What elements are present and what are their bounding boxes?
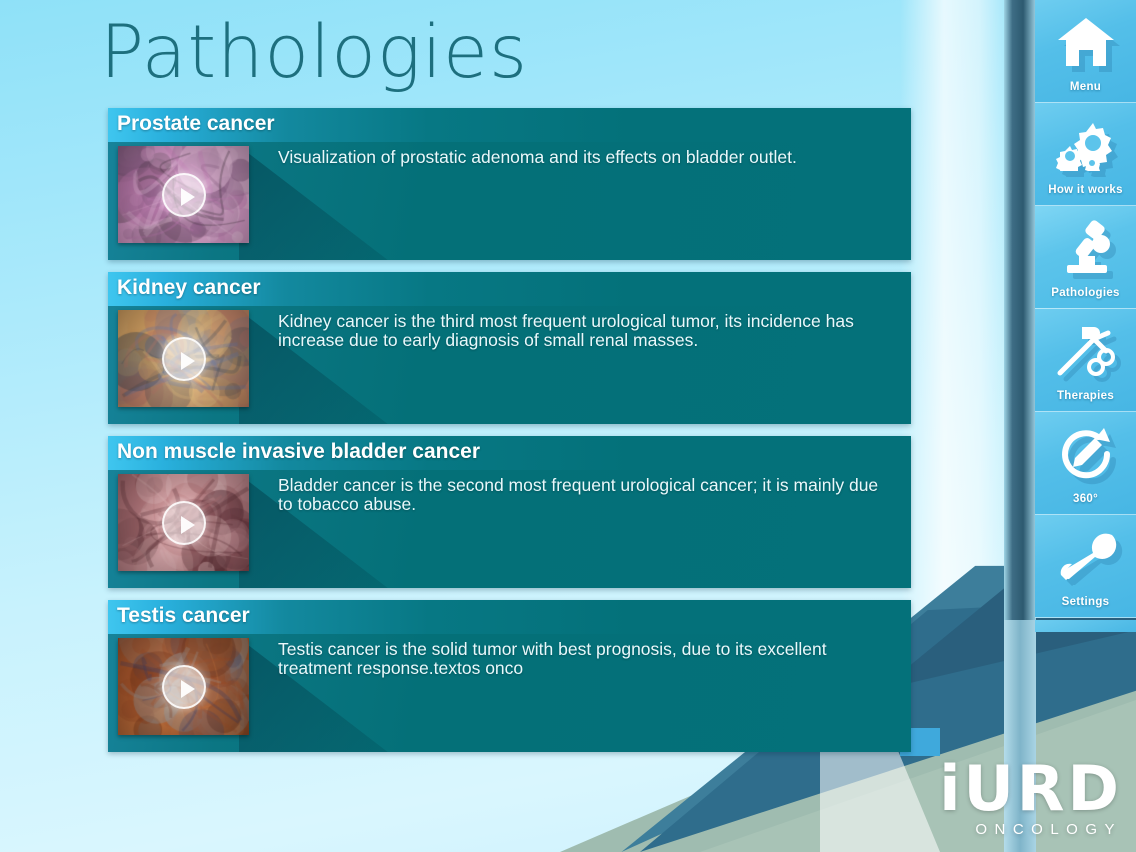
- pathology-card[interactable]: Testis cancer Testis cancer is the solid…: [108, 600, 911, 752]
- card-description: Bladder cancer is the second most freque…: [278, 476, 885, 514]
- rotate-edit-icon: [1035, 425, 1136, 483]
- gears-icon: [1035, 116, 1136, 174]
- sidebar-item-label: Menu: [1035, 81, 1136, 93]
- card-title: Kidney cancer: [117, 276, 261, 300]
- sidebar-item-label: Settings: [1035, 596, 1136, 608]
- sidebar-item-settings[interactable]: Settings: [1035, 515, 1136, 618]
- play-icon[interactable]: [162, 501, 206, 545]
- scissors-icon: [1035, 322, 1136, 380]
- card-body: Visualization of prostatic adenoma and i…: [108, 142, 911, 260]
- brand-logo: iURD ONCOLOGY: [939, 760, 1122, 838]
- microscope-icon: [1035, 219, 1136, 277]
- play-icon[interactable]: [162, 665, 206, 709]
- home-icon: [1035, 13, 1136, 71]
- sidebar-bottom-edge: [1035, 620, 1136, 632]
- kidney-anatomy-thumbnail[interactable]: [118, 310, 249, 407]
- card-body: Testis cancer is the solid tumor with be…: [108, 634, 911, 752]
- page-title: Pathologies: [100, 16, 528, 89]
- wrench-icon: [1035, 528, 1136, 586]
- background-vertical-strip: [1004, 0, 1036, 640]
- play-icon[interactable]: [162, 337, 206, 381]
- card-description: Testis cancer is the solid tumor with be…: [278, 640, 885, 678]
- play-icon[interactable]: [162, 173, 206, 217]
- testis-anatomy-thumbnail[interactable]: [118, 638, 249, 735]
- sidebar-item-label: Pathologies: [1035, 287, 1136, 299]
- card-title: Prostate cancer: [117, 112, 275, 136]
- sidebar-item-360[interactable]: 360°: [1035, 412, 1136, 515]
- sidebar-item-how-it-works[interactable]: How it works: [1035, 103, 1136, 206]
- card-title-bar: Testis cancer: [108, 600, 911, 634]
- sidebar-navigation: Menu How it works Pathologies: [1035, 0, 1136, 620]
- card-title: Non muscle invasive bladder cancer: [117, 440, 480, 464]
- prostate-histology-thumbnail[interactable]: [118, 146, 249, 243]
- card-description: Kidney cancer is the third most frequent…: [278, 312, 885, 350]
- pathology-card[interactable]: Prostate cancer Visualization of prostat…: [108, 108, 911, 260]
- card-title-bar: Non muscle invasive bladder cancer: [108, 436, 911, 470]
- pathology-card[interactable]: Non muscle invasive bladder cancer Bladd…: [108, 436, 911, 588]
- pathology-card[interactable]: Kidney cancer Kidney cancer is the third…: [108, 272, 911, 424]
- sidebar-item-label: Therapies: [1035, 390, 1136, 402]
- card-title-bar: Kidney cancer: [108, 272, 911, 306]
- sidebar-item-label: 360°: [1035, 493, 1136, 505]
- pathology-card-list: Prostate cancer Visualization of prostat…: [108, 108, 911, 764]
- card-description: Visualization of prostatic adenoma and i…: [278, 148, 885, 167]
- sidebar-item-pathologies[interactable]: Pathologies: [1035, 206, 1136, 309]
- sidebar-item-therapies[interactable]: Therapies: [1035, 309, 1136, 412]
- sidebar-item-label: How it works: [1035, 184, 1136, 196]
- card-body: Kidney cancer is the third most frequent…: [108, 306, 911, 424]
- bladder-tumor-thumbnail[interactable]: [118, 474, 249, 571]
- card-title: Testis cancer: [117, 604, 250, 628]
- sidebar-item-menu[interactable]: Menu: [1035, 0, 1136, 103]
- card-title-bar: Prostate cancer: [108, 108, 911, 142]
- card-body: Bladder cancer is the second most freque…: [108, 470, 911, 588]
- logo-wordmark: iURD: [939, 760, 1122, 819]
